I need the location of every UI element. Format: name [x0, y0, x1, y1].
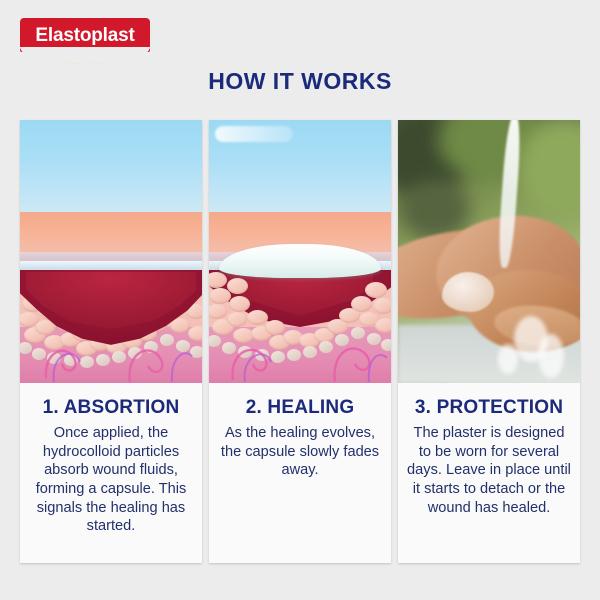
steps-container: 1. ABSORTION Once applied, the hydrocoll… — [20, 120, 580, 563]
plaster-on-skin — [442, 272, 494, 312]
step-body: Once applied, the hydrocolloid particles… — [28, 424, 194, 536]
step-body: The plaster is designed to be worn for s… — [406, 424, 572, 517]
water-droplets — [498, 344, 518, 374]
step-card-absortion: 1. ABSORTION Once applied, the hydrocoll… — [20, 120, 202, 563]
caption-protection: 3. PROTECTION The plaster is designed to… — [398, 383, 580, 563]
logo-wordmark: Elastoplast — [35, 26, 134, 45]
step-card-healing: 2. HEALING As the healing evolves, the c… — [209, 120, 391, 563]
caption-healing: 2. HEALING As the healing evolves, the c… — [209, 383, 391, 563]
step-card-protection: 3. PROTECTION The plaster is designed to… — [398, 120, 580, 563]
blood-vessels — [20, 120, 202, 383]
step-heading: 2. HEALING — [217, 397, 383, 419]
elastoplast-logo: Elastoplast — [20, 18, 150, 64]
caption-absortion: 1. ABSORTION Once applied, the hydrocoll… — [20, 383, 202, 563]
logo-swoosh-cutout — [20, 47, 150, 64]
step-body: As the healing evolves, the capsule slow… — [217, 424, 383, 480]
illustration-capsule — [209, 120, 391, 383]
step-heading: 1. ABSORTION — [28, 397, 194, 419]
infographic-page: Elastoplast HOW IT WORKS — [0, 0, 600, 600]
water-runoff — [538, 334, 564, 378]
page-title: HOW IT WORKS — [0, 68, 600, 95]
illustration-open-wound — [20, 120, 202, 383]
photo-hand-washing — [398, 120, 580, 383]
blood-vessels — [209, 120, 391, 383]
step-heading: 3. PROTECTION — [406, 397, 572, 419]
